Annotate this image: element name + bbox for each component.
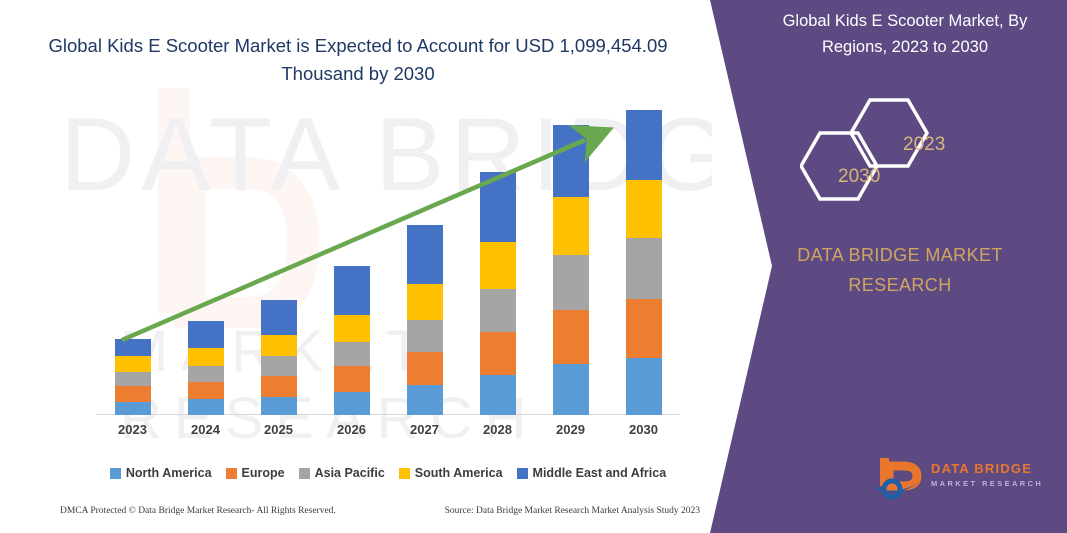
bar-segment xyxy=(261,335,297,357)
footer: DMCA Protected © Data Bridge Market Rese… xyxy=(60,506,700,516)
legend-swatch xyxy=(110,468,121,479)
hexagon-outline-icon xyxy=(800,88,1000,213)
hex-label-2023: 2023 xyxy=(903,134,945,156)
bar-segment xyxy=(626,358,662,415)
brand-name-line1: DATA BRIDGE MARKET xyxy=(750,240,1050,270)
legend-item[interactable]: South America xyxy=(399,466,503,480)
bar-stack xyxy=(626,110,662,415)
bar-column xyxy=(607,110,680,415)
x-axis-label: 2029 xyxy=(534,422,607,437)
bar-segment xyxy=(407,225,443,285)
bar-segment xyxy=(626,110,662,180)
bar-segment xyxy=(115,339,151,356)
bar-stack xyxy=(553,125,589,415)
x-axis-label: 2025 xyxy=(242,422,315,437)
bar-segment xyxy=(261,397,297,415)
chart-title: Global Kids E Scooter Market is Expected… xyxy=(16,32,700,88)
chart-panel: DATA BRIDGE MARKET RESEARCH Global Kids … xyxy=(0,0,712,533)
brand-name: DATA BRIDGE MARKET RESEARCH xyxy=(750,240,1050,300)
bar-segment xyxy=(188,321,224,348)
bar-segment xyxy=(626,238,662,299)
bar-segment xyxy=(480,289,516,332)
bar-segment xyxy=(626,180,662,239)
bar-segment xyxy=(115,386,151,402)
bar-segment xyxy=(334,315,370,342)
bar-segment xyxy=(334,366,370,392)
bar-segment xyxy=(553,255,589,310)
bar-segment xyxy=(626,299,662,358)
legend-label: Europe xyxy=(242,466,285,480)
bar-column xyxy=(388,110,461,415)
bar-segment xyxy=(553,310,589,364)
legend-label: North America xyxy=(126,466,212,480)
legend-item[interactable]: Asia Pacific xyxy=(299,466,385,480)
bar-column xyxy=(534,110,607,415)
data-bridge-logo-icon xyxy=(875,456,925,502)
x-axis-labels: 20232024202520262027202820292030 xyxy=(96,422,680,437)
bar-segment xyxy=(407,284,443,319)
bar-segment xyxy=(334,392,370,415)
bar-segment xyxy=(115,402,151,415)
bar-segment xyxy=(407,352,443,385)
legend-item[interactable]: North America xyxy=(110,466,212,480)
footer-copyright: DMCA Protected © Data Bridge Market Rese… xyxy=(60,506,336,516)
hexagon-badges: 2023 2030 xyxy=(800,88,1000,213)
x-axis-label: 2030 xyxy=(607,422,680,437)
bar-segment xyxy=(334,342,370,366)
bar-segment xyxy=(334,266,370,315)
bar-column xyxy=(169,110,242,415)
legend-item[interactable]: Europe xyxy=(226,466,285,480)
bar-segment xyxy=(480,375,516,415)
bar-segment xyxy=(480,332,516,375)
logo-wordmark: DATA BRIDGE xyxy=(931,461,1032,476)
logo-subwordmark: MARKET RESEARCH xyxy=(931,479,1043,488)
legend-label: Middle East and Africa xyxy=(533,466,667,480)
bar-column xyxy=(96,110,169,415)
x-axis-label: 2024 xyxy=(169,422,242,437)
legend-swatch xyxy=(299,468,310,479)
bar-segment xyxy=(188,366,224,382)
legend-swatch xyxy=(226,468,237,479)
bar-stack xyxy=(480,172,516,415)
bar-segment xyxy=(480,172,516,242)
bar-segment xyxy=(115,372,151,385)
x-axis-label: 2027 xyxy=(388,422,461,437)
bar-segment xyxy=(553,197,589,256)
bar-segment xyxy=(407,385,443,416)
bar-chart-plot xyxy=(96,110,680,415)
bar-segment xyxy=(480,242,516,290)
bar-column xyxy=(315,110,388,415)
bar-stack xyxy=(115,339,151,415)
company-logo: DATA BRIDGE MARKET RESEARCH xyxy=(875,456,1055,508)
bar-segment xyxy=(188,399,224,415)
brand-name-line2: RESEARCH xyxy=(750,270,1050,300)
bar-stack xyxy=(407,225,443,415)
bar-column xyxy=(461,110,534,415)
legend-label: South America xyxy=(415,466,503,480)
footer-source: Source: Data Bridge Market Research Mark… xyxy=(445,506,700,516)
bar-stack xyxy=(261,300,297,415)
chart-legend: North AmericaEuropeAsia PacificSouth Ame… xyxy=(96,466,680,480)
hex-label-2030: 2030 xyxy=(838,166,880,188)
panel-title: Global Kids E Scooter Market, By Regions… xyxy=(760,8,1050,60)
branding-panel: Global Kids E Scooter Market, By Regions… xyxy=(690,0,1067,533)
x-axis-label: 2023 xyxy=(96,422,169,437)
bar-segment xyxy=(188,382,224,399)
bar-column xyxy=(242,110,315,415)
bar-segment xyxy=(261,356,297,376)
bar-segment xyxy=(115,356,151,372)
legend-item[interactable]: Middle East and Africa xyxy=(517,466,667,480)
bar-segment xyxy=(553,125,589,197)
infographic-root: DATA BRIDGE MARKET RESEARCH Global Kids … xyxy=(0,0,1067,533)
bar-segment xyxy=(261,376,297,397)
bar-stack xyxy=(334,266,370,415)
bar-stack xyxy=(188,321,224,415)
bar-segment xyxy=(188,348,224,366)
legend-swatch xyxy=(517,468,528,479)
x-axis-label: 2028 xyxy=(461,422,534,437)
legend-swatch xyxy=(399,468,410,479)
bar-segment xyxy=(407,320,443,352)
legend-label: Asia Pacific xyxy=(315,466,385,480)
bar-segment xyxy=(261,300,297,334)
x-axis-label: 2026 xyxy=(315,422,388,437)
bar-segment xyxy=(553,364,589,415)
